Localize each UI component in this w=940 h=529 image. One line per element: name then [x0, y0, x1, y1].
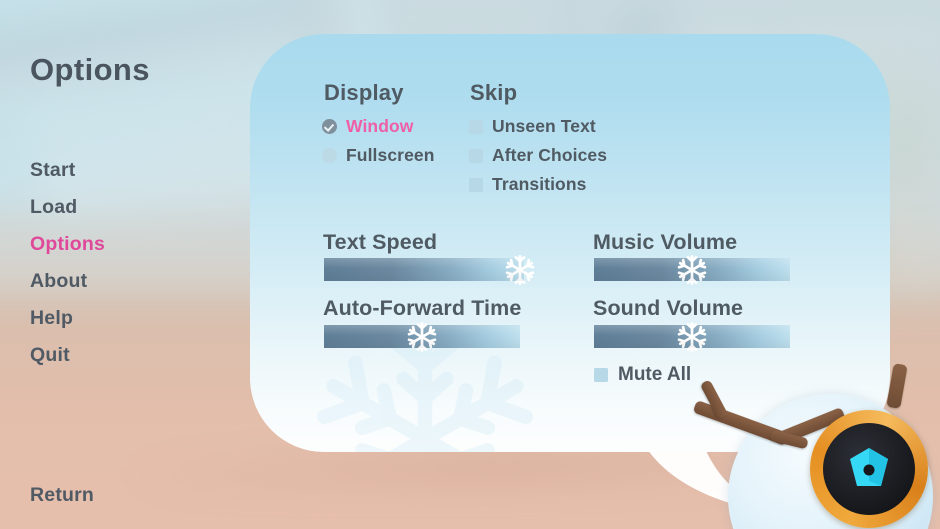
- snowflake-icon: [405, 320, 439, 354]
- menu-item-quit[interactable]: Quit: [30, 343, 105, 368]
- badge-ring: [810, 410, 928, 528]
- skip-option-unseen-text-label: Unseen Text: [492, 116, 596, 137]
- menu-item-options[interactable]: Options: [30, 232, 105, 257]
- skip-option-unseen-text[interactable]: Unseen Text: [469, 116, 596, 137]
- display-option-window[interactable]: Window: [322, 116, 414, 137]
- radio-window-icon: [322, 119, 337, 134]
- page-title: Options: [30, 52, 150, 88]
- skip-option-after-choices[interactable]: After Choices: [469, 145, 607, 166]
- snowflake-icon: [503, 253, 537, 287]
- menu-item-about[interactable]: About: [30, 269, 105, 294]
- menu-item-start[interactable]: Start: [30, 158, 105, 183]
- options-screen: Options Start Load Options About Help Qu…: [0, 0, 940, 529]
- display-option-fullscreen[interactable]: Fullscreen: [322, 145, 435, 166]
- checkbox-after-choices-icon: [469, 149, 483, 163]
- menu-item-load[interactable]: Load: [30, 195, 105, 220]
- checkbox-transitions-icon: [469, 178, 483, 192]
- skip-option-after-choices-label: After Choices: [492, 145, 607, 166]
- menu-item-help[interactable]: Help: [30, 306, 105, 331]
- text-speed-label: Text Speed: [323, 230, 437, 255]
- display-option-window-label: Window: [346, 116, 414, 137]
- sound-volume-label: Sound Volume: [593, 296, 743, 321]
- cyan-cube-icon: [844, 444, 894, 494]
- badge-core: [823, 423, 915, 515]
- display-heading: Display: [324, 80, 404, 106]
- mute-all-option[interactable]: Mute All: [594, 364, 691, 386]
- sound-volume-slider[interactable]: [594, 325, 790, 348]
- skip-option-transitions[interactable]: Transitions: [469, 174, 586, 195]
- text-speed-slider[interactable]: [324, 258, 524, 281]
- music-volume-slider[interactable]: [594, 258, 790, 281]
- return-button[interactable]: Return: [30, 484, 94, 507]
- snowflake-icon: [675, 253, 709, 287]
- auto-forward-time-slider[interactable]: [324, 325, 520, 348]
- music-volume-label: Music Volume: [593, 230, 737, 255]
- auto-forward-time-label: Auto-Forward Time: [323, 296, 521, 321]
- snowman-character: [700, 372, 940, 529]
- checkbox-unseen-text-icon: [469, 120, 483, 134]
- mute-all-label: Mute All: [618, 364, 691, 386]
- radio-fullscreen-icon: [322, 148, 337, 163]
- main-menu: Start Load Options About Help Quit: [30, 158, 105, 368]
- checkbox-mute-all-icon: [594, 368, 608, 382]
- skip-heading: Skip: [470, 80, 517, 106]
- display-option-fullscreen-label: Fullscreen: [346, 145, 435, 166]
- skip-option-transitions-label: Transitions: [492, 174, 586, 195]
- snowflake-icon: [675, 320, 709, 354]
